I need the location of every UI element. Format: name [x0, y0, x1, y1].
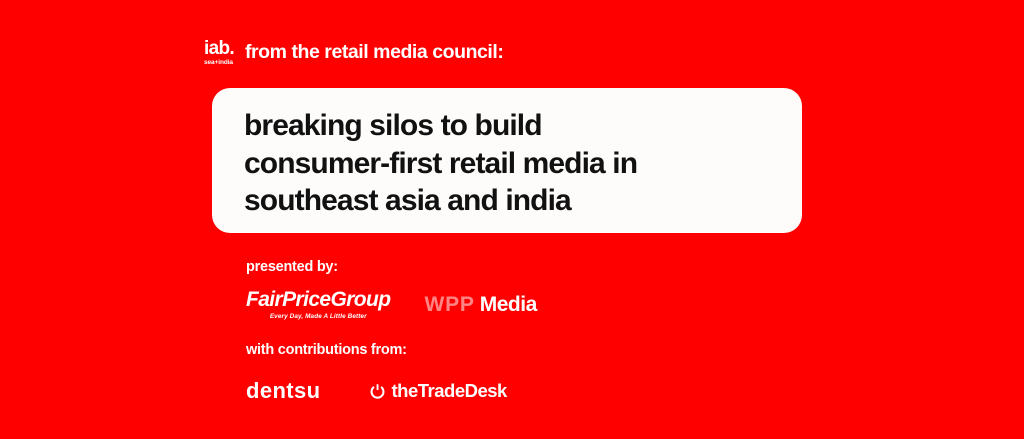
- thetradedesk-logo: theTradeDesk: [369, 380, 507, 402]
- fairprice-group-logo: FairPriceGroup Every Day, Made A Little …: [246, 289, 390, 320]
- wpp-media-word: Media: [480, 293, 537, 317]
- dentsu-logo: dentsu: [246, 378, 321, 404]
- iab-logo-subtext: sea+india: [204, 60, 233, 67]
- headline-line-3: southeast asia and india: [244, 182, 772, 220]
- headline-line-2: consumer-first retail media in: [244, 145, 772, 183]
- promo-slide: iab. sea+india from the retail media cou…: [0, 0, 1024, 439]
- presented-by-logo-row: FairPriceGroup Every Day, Made A Little …: [246, 289, 537, 320]
- iab-logo: iab. sea+india: [204, 38, 234, 66]
- fairprice-group-wordmark: FairPriceGroup: [246, 289, 390, 312]
- headline-line-1: breaking silos to build: [244, 107, 772, 145]
- wpp-wordmark: WPP: [424, 293, 474, 317]
- thetradedesk-wordmark: theTradeDesk: [392, 380, 507, 402]
- eyebrow-text: from the retail media council:: [245, 41, 503, 64]
- wpp-media-logo: WPP Media: [424, 293, 536, 317]
- contributions-label: with contributions from:: [246, 342, 407, 358]
- iab-logo-mark: iab.: [204, 40, 234, 58]
- headline-card: breaking silos to build consumer-first r…: [212, 88, 802, 233]
- power-button-icon: [369, 383, 386, 400]
- contributions-logo-row: dentsu theTradeDesk: [246, 378, 507, 404]
- header-row: iab. sea+india from the retail media cou…: [204, 38, 503, 66]
- fairprice-group-tagline: Every Day, Made A Little Better: [270, 314, 367, 320]
- presented-by-label: presented by:: [246, 259, 338, 275]
